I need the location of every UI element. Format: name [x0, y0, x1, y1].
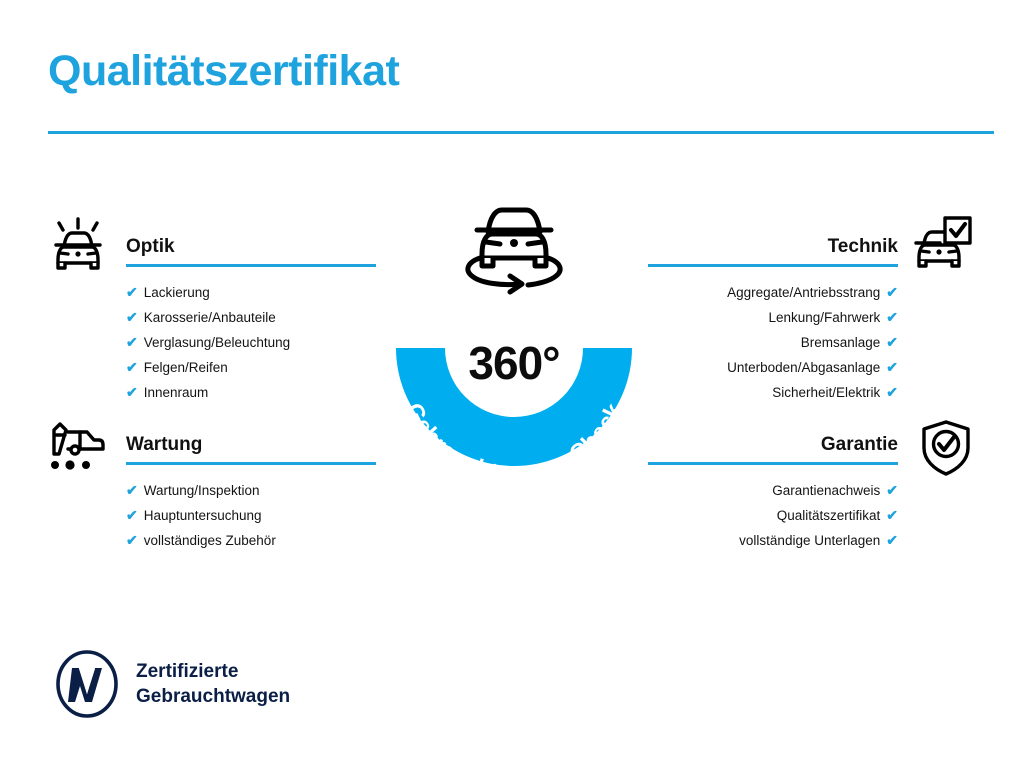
list-item-label: Qualitätszertifikat	[777, 504, 881, 528]
section-divider-garantie	[648, 462, 898, 465]
list-item: ✔Innenraum	[126, 380, 394, 405]
list-item: ✔Wartung/Inspektion	[126, 478, 394, 503]
section-heading-optik: Optik	[126, 236, 394, 258]
car-checkbox-icon	[910, 213, 974, 277]
section-optik: Optik ✔Lackierung ✔Karosserie/Anbauteile…	[126, 236, 394, 405]
list-item-label: Lackierung	[144, 281, 210, 305]
list-item: ✔Lackierung	[126, 280, 394, 305]
list-item: ✔Verglasung/Beleuchtung	[126, 330, 394, 355]
checklist-optik: ✔Lackierung ✔Karosserie/Anbauteile ✔Verg…	[126, 280, 394, 405]
section-heading-technik: Technik	[630, 236, 898, 258]
list-item: Sicherheit/Elektrik✔	[630, 380, 898, 405]
check-icon: ✔	[126, 305, 138, 329]
check-icon: ✔	[886, 330, 898, 354]
footer-line-1: Zertifizierte	[136, 659, 290, 684]
list-item: vollständige Unterlagen✔	[630, 528, 898, 553]
section-heading-garantie: Garantie	[630, 434, 898, 456]
list-item: Garantienachweis✔	[630, 478, 898, 503]
list-item-label: Sicherheit/Elektrik	[772, 381, 880, 405]
check-icon: ✔	[126, 355, 138, 379]
check-icon: ✔	[886, 280, 898, 304]
title-divider	[48, 131, 994, 134]
list-item-label: vollständige Unterlagen	[739, 529, 880, 553]
list-item: Aggregate/Antriebsstrang✔	[630, 280, 898, 305]
list-item: ✔Felgen/Reifen	[126, 355, 394, 380]
list-item: ✔Hauptuntersuchung	[126, 503, 394, 528]
check-icon: ✔	[886, 380, 898, 404]
list-item-label: Unterboden/Abgasanlage	[727, 356, 880, 380]
section-wartung: Wartung ✔Wartung/Inspektion ✔Hauptunters…	[126, 434, 394, 553]
list-item-label: Verglasung/Beleuchtung	[144, 331, 290, 355]
check-icon: ✔	[126, 330, 138, 354]
list-item: Lenkung/Fahrwerk✔	[630, 305, 898, 330]
list-item-label: Aggregate/Antriebsstrang	[727, 281, 880, 305]
list-item-label: Karosserie/Anbauteile	[144, 306, 276, 330]
360-check-badge: Gebrauchtwagen-Check 360°	[374, 196, 654, 488]
check-icon: ✔	[126, 503, 138, 527]
list-item: Bremsanlage✔	[630, 330, 898, 355]
list-item: ✔vollständiges Zubehör	[126, 528, 394, 553]
checklist-wartung: ✔Wartung/Inspektion ✔Hauptuntersuchung ✔…	[126, 478, 394, 553]
check-icon: ✔	[126, 478, 138, 502]
checklist-garantie: Garantienachweis✔ Qualitätszertifikat✔ v…	[630, 478, 898, 553]
list-item: Unterboden/Abgasanlage✔	[630, 355, 898, 380]
section-garantie: Garantie Garantienachweis✔ Qualitätszert…	[630, 434, 898, 553]
list-item-label: Felgen/Reifen	[144, 356, 228, 380]
vw-logo	[56, 650, 118, 718]
list-item-label: Wartung/Inspektion	[144, 479, 260, 503]
check-icon: ✔	[126, 380, 138, 404]
check-icon: ✔	[886, 305, 898, 329]
list-item-label: Innenraum	[144, 381, 209, 405]
page-title: Qualitätszertifikat	[48, 48, 399, 95]
check-icon: ✔	[126, 280, 138, 304]
list-item: ✔Karosserie/Anbauteile	[126, 305, 394, 330]
footer-text: Zertifizierte Gebrauchtwagen	[136, 659, 290, 709]
list-item-label: Bremsanlage	[801, 331, 881, 355]
checklist-technik: Aggregate/Antriebsstrang✔ Lenkung/Fahrwe…	[630, 280, 898, 405]
section-divider-technik	[648, 264, 898, 267]
check-icon: ✔	[886, 503, 898, 527]
shield-check-icon	[914, 416, 978, 480]
section-divider-optik	[126, 264, 376, 267]
list-item-label: vollständiges Zubehör	[144, 529, 276, 553]
check-icon: ✔	[886, 478, 898, 502]
badge-degrees-label: 360°	[374, 336, 654, 390]
section-heading-wartung: Wartung	[126, 434, 394, 456]
service-book-car-icon	[46, 416, 110, 480]
check-icon: ✔	[126, 528, 138, 552]
check-icon: ✔	[886, 528, 898, 552]
car-rotate-icon	[458, 196, 570, 298]
list-item-label: Garantienachweis	[772, 479, 880, 503]
footer-line-2: Gebrauchtwagen	[136, 684, 290, 709]
section-divider-wartung	[126, 462, 376, 465]
list-item-label: Lenkung/Fahrwerk	[768, 306, 880, 330]
list-item: Qualitätszertifikat✔	[630, 503, 898, 528]
check-icon: ✔	[886, 355, 898, 379]
footer-branding: Zertifizierte Gebrauchtwagen	[56, 650, 290, 718]
car-shine-icon	[46, 213, 110, 277]
section-technik: Technik Aggregate/Antriebsstrang✔ Lenkun…	[630, 236, 898, 405]
list-item-label: Hauptuntersuchung	[144, 504, 262, 528]
